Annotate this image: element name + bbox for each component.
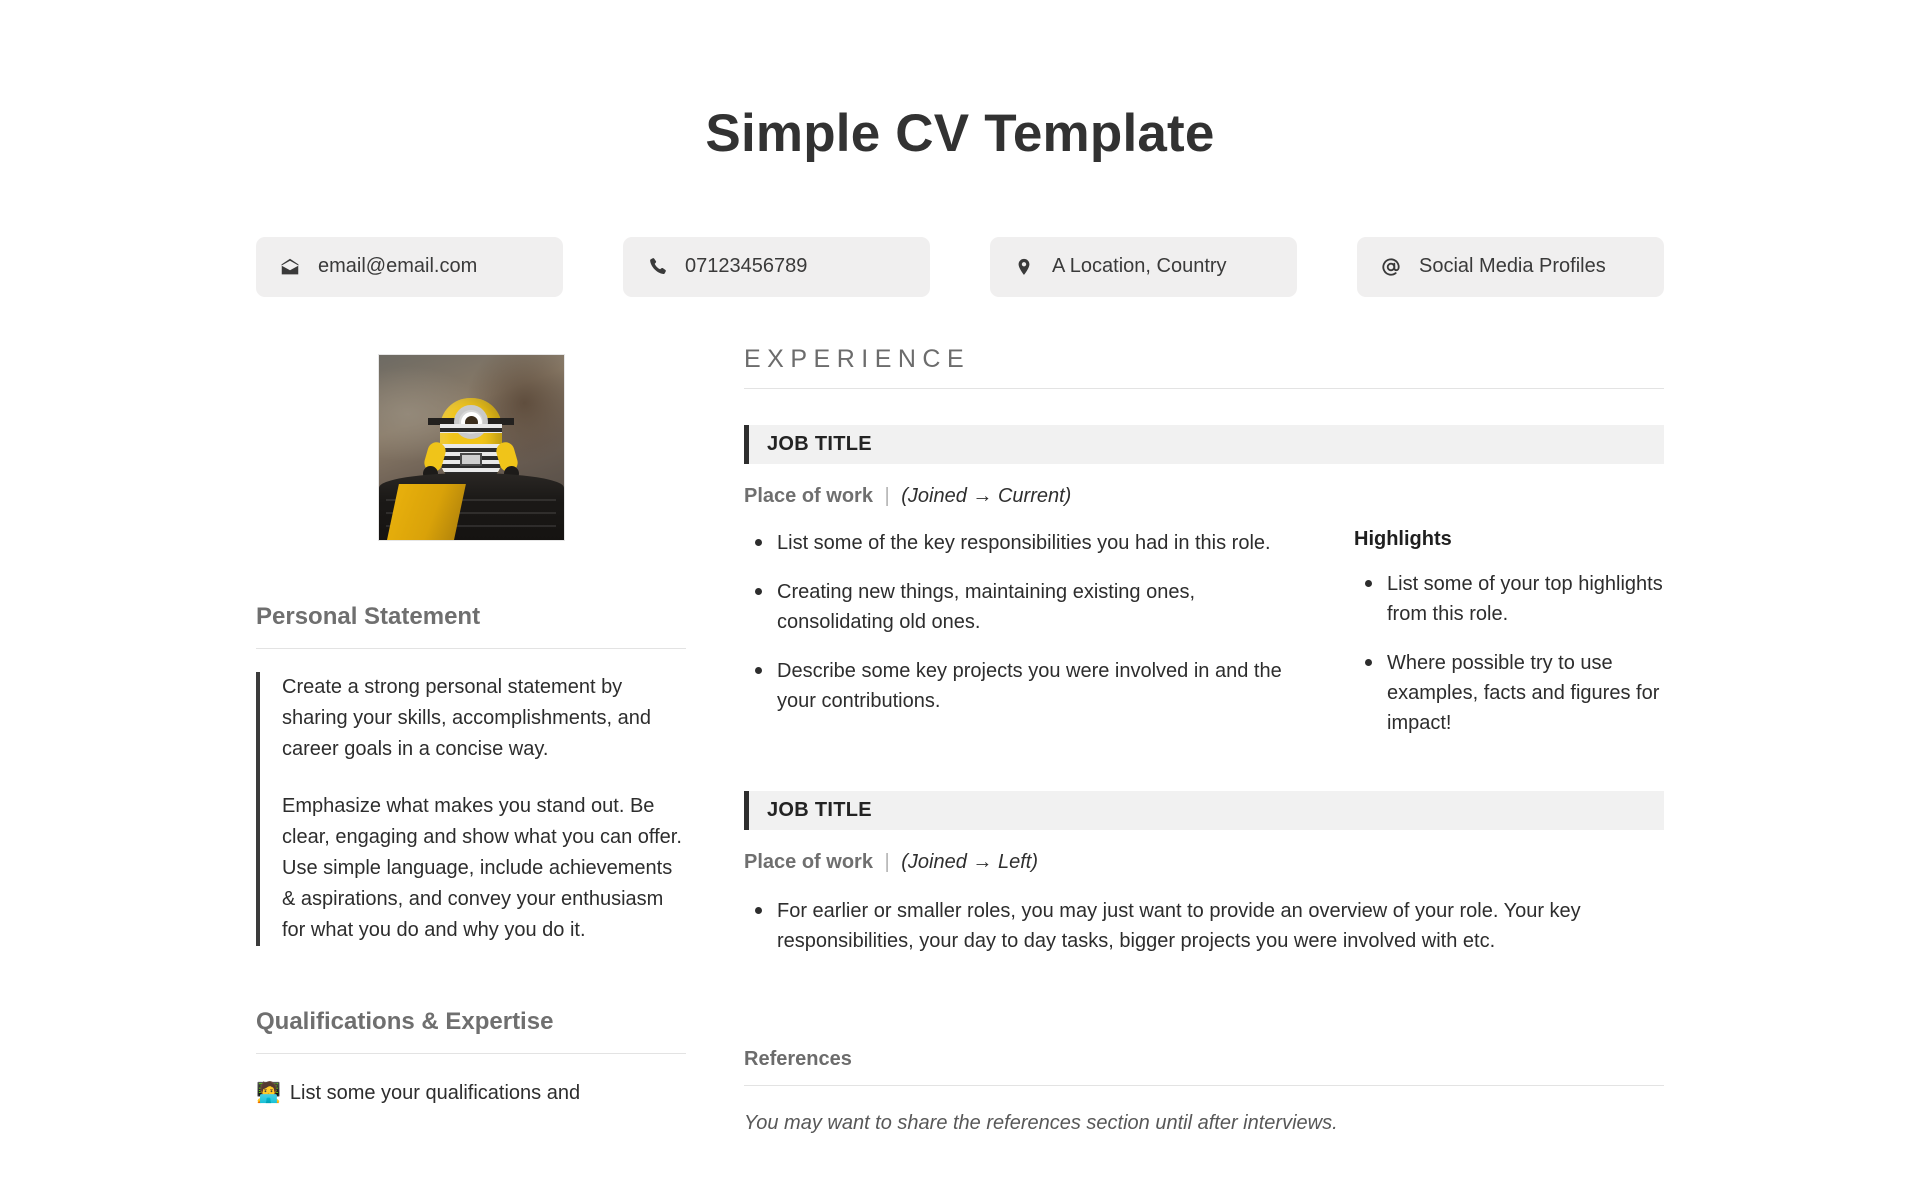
job-responsibilities: For earlier or smaller roles, you may ju… [744,896,1664,956]
profile-photo-wrapper [256,344,686,541]
personal-statement-section: Personal Statement Create a strong perso… [256,603,686,946]
qualifications-item-text: List some your qualifications and [290,1078,580,1108]
cv-page: Simple CV Template email@email.com 07123… [0,0,1920,1199]
qualifications-heading: Qualifications & Expertise [256,1008,686,1037]
list-item: List some of the key responsibilities yo… [744,528,1314,558]
job-meta: Place of work | (Joined → Left) [744,851,1664,874]
job-highlights: Highlights List some of your top highlig… [1354,528,1664,738]
experience-heading: EXPERIENCE [744,344,1664,374]
sidebar: Personal Statement Create a strong perso… [256,344,686,1108]
person-computer-emoji-icon: 🧑‍💻 [256,1078,281,1108]
contact-chip-social[interactable]: Social Media Profiles [1357,237,1664,297]
minion-goggle [454,405,488,439]
personal-statement-paragraph: Create a strong personal statement by sh… [282,672,686,765]
list-item: List some of your top highlights from th… [1354,569,1664,629]
qualifications-divider [256,1053,686,1054]
contact-chip-social-label: Social Media Profiles [1419,255,1606,278]
personal-statement-divider [256,648,686,649]
personal-statement-quote: Create a strong personal statement by sh… [256,672,686,946]
responsibilities-list: For earlier or smaller roles, you may ju… [744,896,1664,956]
page-title: Simple CV Template [0,0,1920,165]
references-section: References You may want to share the ref… [744,1048,1664,1135]
contact-chip-email-label: email@email.com [318,255,477,278]
job-meta-separator: | [879,851,896,873]
job-meta-separator: | [879,485,896,507]
list-item: Creating new things, maintaining existin… [744,577,1314,637]
contact-chip-location[interactable]: A Location, Country [990,237,1297,297]
phone-icon [645,255,669,279]
personal-statement-paragraph: Emphasize what makes you stand out. Be c… [282,791,686,946]
job-dates: (Joined → Left) [901,851,1038,873]
location-pin-icon [1012,255,1036,279]
job-responsibilities: List some of the key responsibilities yo… [744,528,1354,716]
contact-chip-phone[interactable]: 07123456789 [623,237,930,297]
experience-entry-1: JOB TITLE Place of work | (Joined → Curr… [744,425,1664,738]
minion-figure [440,398,502,484]
highlights-label: Highlights [1354,528,1664,551]
photo-yellow-band [387,484,465,540]
contact-bar: email@email.com 07123456789 A Location, … [0,237,1920,297]
envelope-icon [278,255,302,279]
contact-chip-location-label: A Location, Country [1052,255,1227,278]
job-dates: (Joined → Current) [901,485,1071,507]
at-sign-icon [1379,255,1403,279]
personal-statement-heading: Personal Statement [256,603,686,632]
list-item: For earlier or smaller roles, you may ju… [744,896,1664,956]
list-item: 🧑‍💻 List some your qualifications and [256,1078,686,1108]
job-title-bar: JOB TITLE [744,791,1664,830]
highlights-list: List some of your top highlights from th… [1354,569,1664,738]
qualifications-section: Qualifications & Expertise 🧑‍💻 List some… [256,1008,686,1108]
references-heading: References [744,1048,1664,1071]
job-meta: Place of work | (Joined → Current) [744,485,1664,508]
job-body: List some of the key responsibilities yo… [744,528,1664,738]
job-title: JOB TITLE [767,799,872,822]
content-columns: Personal Statement Create a strong perso… [0,344,1920,1135]
job-place: Place of work [744,485,873,507]
experience-divider [744,388,1664,389]
main-content: EXPERIENCE JOB TITLE Place of work | (Jo… [744,344,1664,1135]
list-item: Where possible try to use examples, fact… [1354,648,1664,738]
minion-stripe-top [440,424,502,433]
job-title-bar: JOB TITLE [744,425,1664,464]
contact-chip-phone-label: 07123456789 [685,255,807,278]
profile-photo [378,354,565,541]
job-title: JOB TITLE [767,433,872,456]
responsibilities-list: List some of the key responsibilities yo… [744,528,1314,716]
job-place: Place of work [744,851,873,873]
list-item: Describe some key projects you were invo… [744,656,1314,716]
references-note: You may want to share the references sec… [744,1112,1664,1135]
references-divider [744,1085,1664,1086]
minion-badge [460,453,482,466]
experience-entry-2: JOB TITLE Place of work | (Joined → Left… [744,791,1664,956]
contact-chip-email[interactable]: email@email.com [256,237,563,297]
